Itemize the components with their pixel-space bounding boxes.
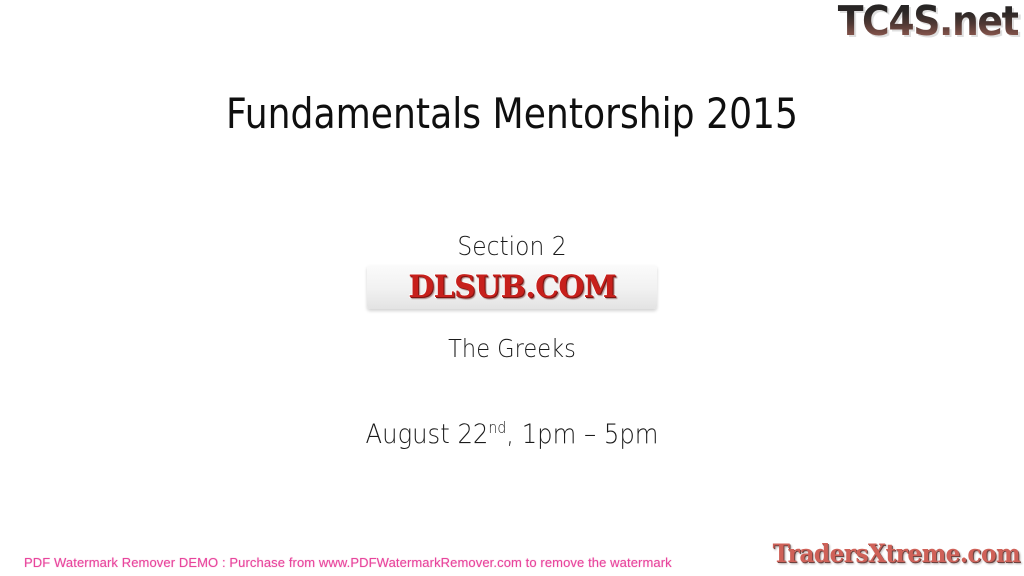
- slide-title: Fundamentals Mentorship 2015: [72, 89, 953, 138]
- tradersxtreme-logo: TradersXtreme.com: [773, 541, 1020, 566]
- dlsub-watermark-text: DLSUB.COM: [408, 272, 616, 303]
- dlsub-watermark-plaque: DLSUB.COM: [367, 265, 657, 309]
- dateline-suffix: , 1pm – 5pm: [506, 419, 658, 450]
- tc4s-logo: TC4S.net: [837, 1, 1018, 42]
- slide-dateline: August 22nd, 1pm – 5pm: [51, 419, 973, 450]
- pdf-watermark-remover-notice: PDF Watermark Remover DEMO : Purchase fr…: [24, 555, 672, 570]
- presentation-slide: TC4S.net TC4S.net Fundamentals Mentorshi…: [0, 0, 1024, 576]
- dateline-prefix: August 22: [366, 419, 489, 450]
- section-label: Section 2: [51, 232, 973, 262]
- slide-subtitle: The Greeks: [51, 334, 973, 363]
- dateline-ordinal: nd: [488, 418, 506, 437]
